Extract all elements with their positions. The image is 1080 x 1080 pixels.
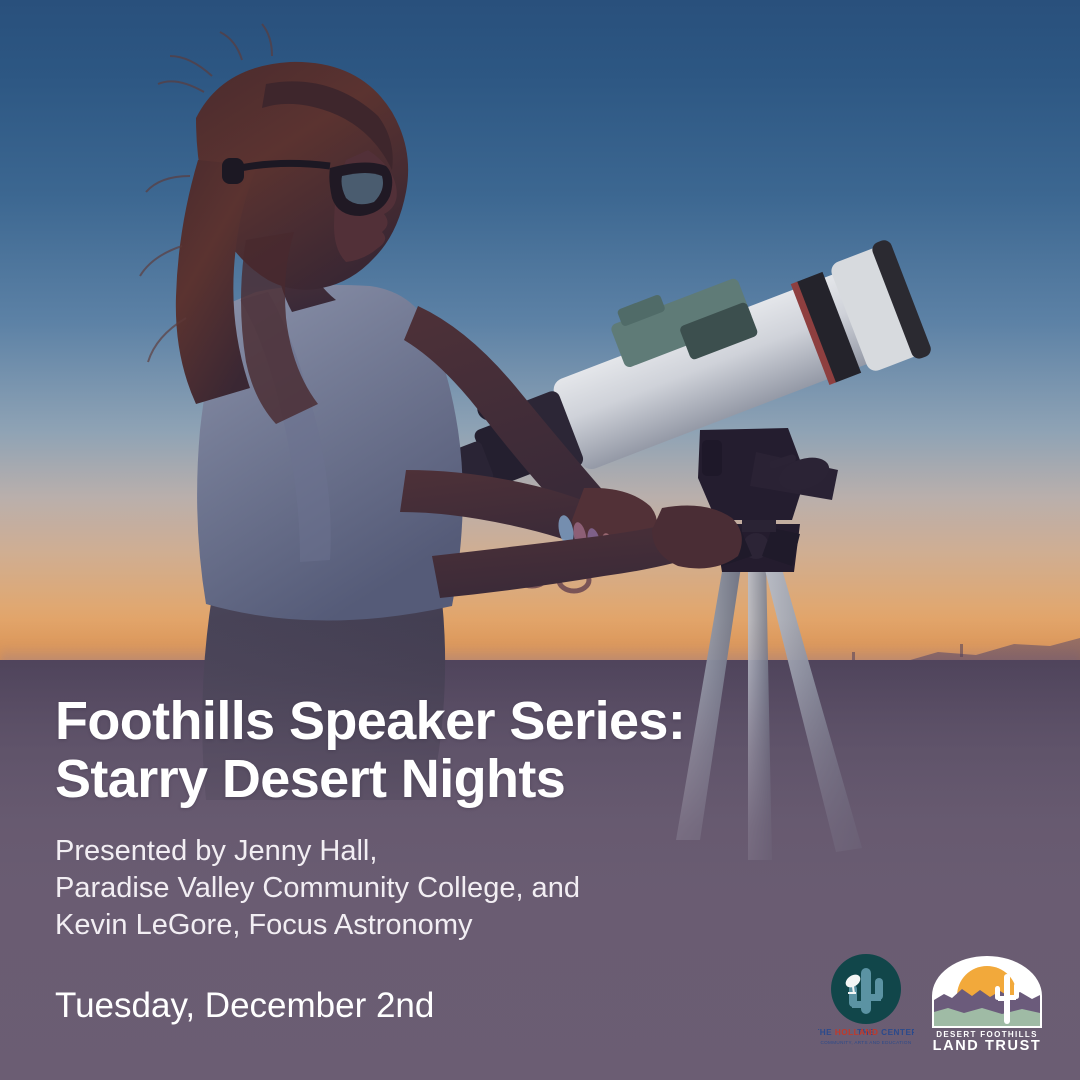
title-line-2: Starry Desert Nights — [55, 750, 1040, 808]
presenter-line-1: Presented by Jenny Hall, — [55, 833, 1040, 870]
presenter-line-3: Kevin LeGore, Focus Astronomy — [55, 907, 1040, 944]
presenter-line-2: Paradise Valley Community College, and — [55, 870, 1040, 907]
page-title: Foothills Speaker Series: Starry Desert … — [55, 692, 1040, 808]
presenters-text: Presented by Jenny Hall, Paradise Valley… — [55, 833, 1040, 944]
title-line-1: Foothills Speaker Series: — [55, 692, 1040, 750]
telescope-mount — [698, 428, 838, 520]
logo-row: THE THE HOLLAND CENTER COMMUNITY, ARTS A… — [818, 952, 1046, 1052]
holland-wordmark: THE HOLLAND CENTER — [818, 1028, 914, 1037]
desert-foothills-land-trust-logo[interactable]: DESERT FOOTHILLS LAND TRUST — [928, 956, 1046, 1052]
holland-tagline: COMMUNITY, ARTS AND EDUCATION — [820, 1040, 911, 1045]
event-poster: Foothills Speaker Series: Starry Desert … — [0, 0, 1080, 1080]
land-trust-line-2: LAND TRUST — [933, 1038, 1042, 1052]
the-holland-center-logo[interactable]: THE THE HOLLAND CENTER COMMUNITY, ARTS A… — [818, 952, 914, 1052]
